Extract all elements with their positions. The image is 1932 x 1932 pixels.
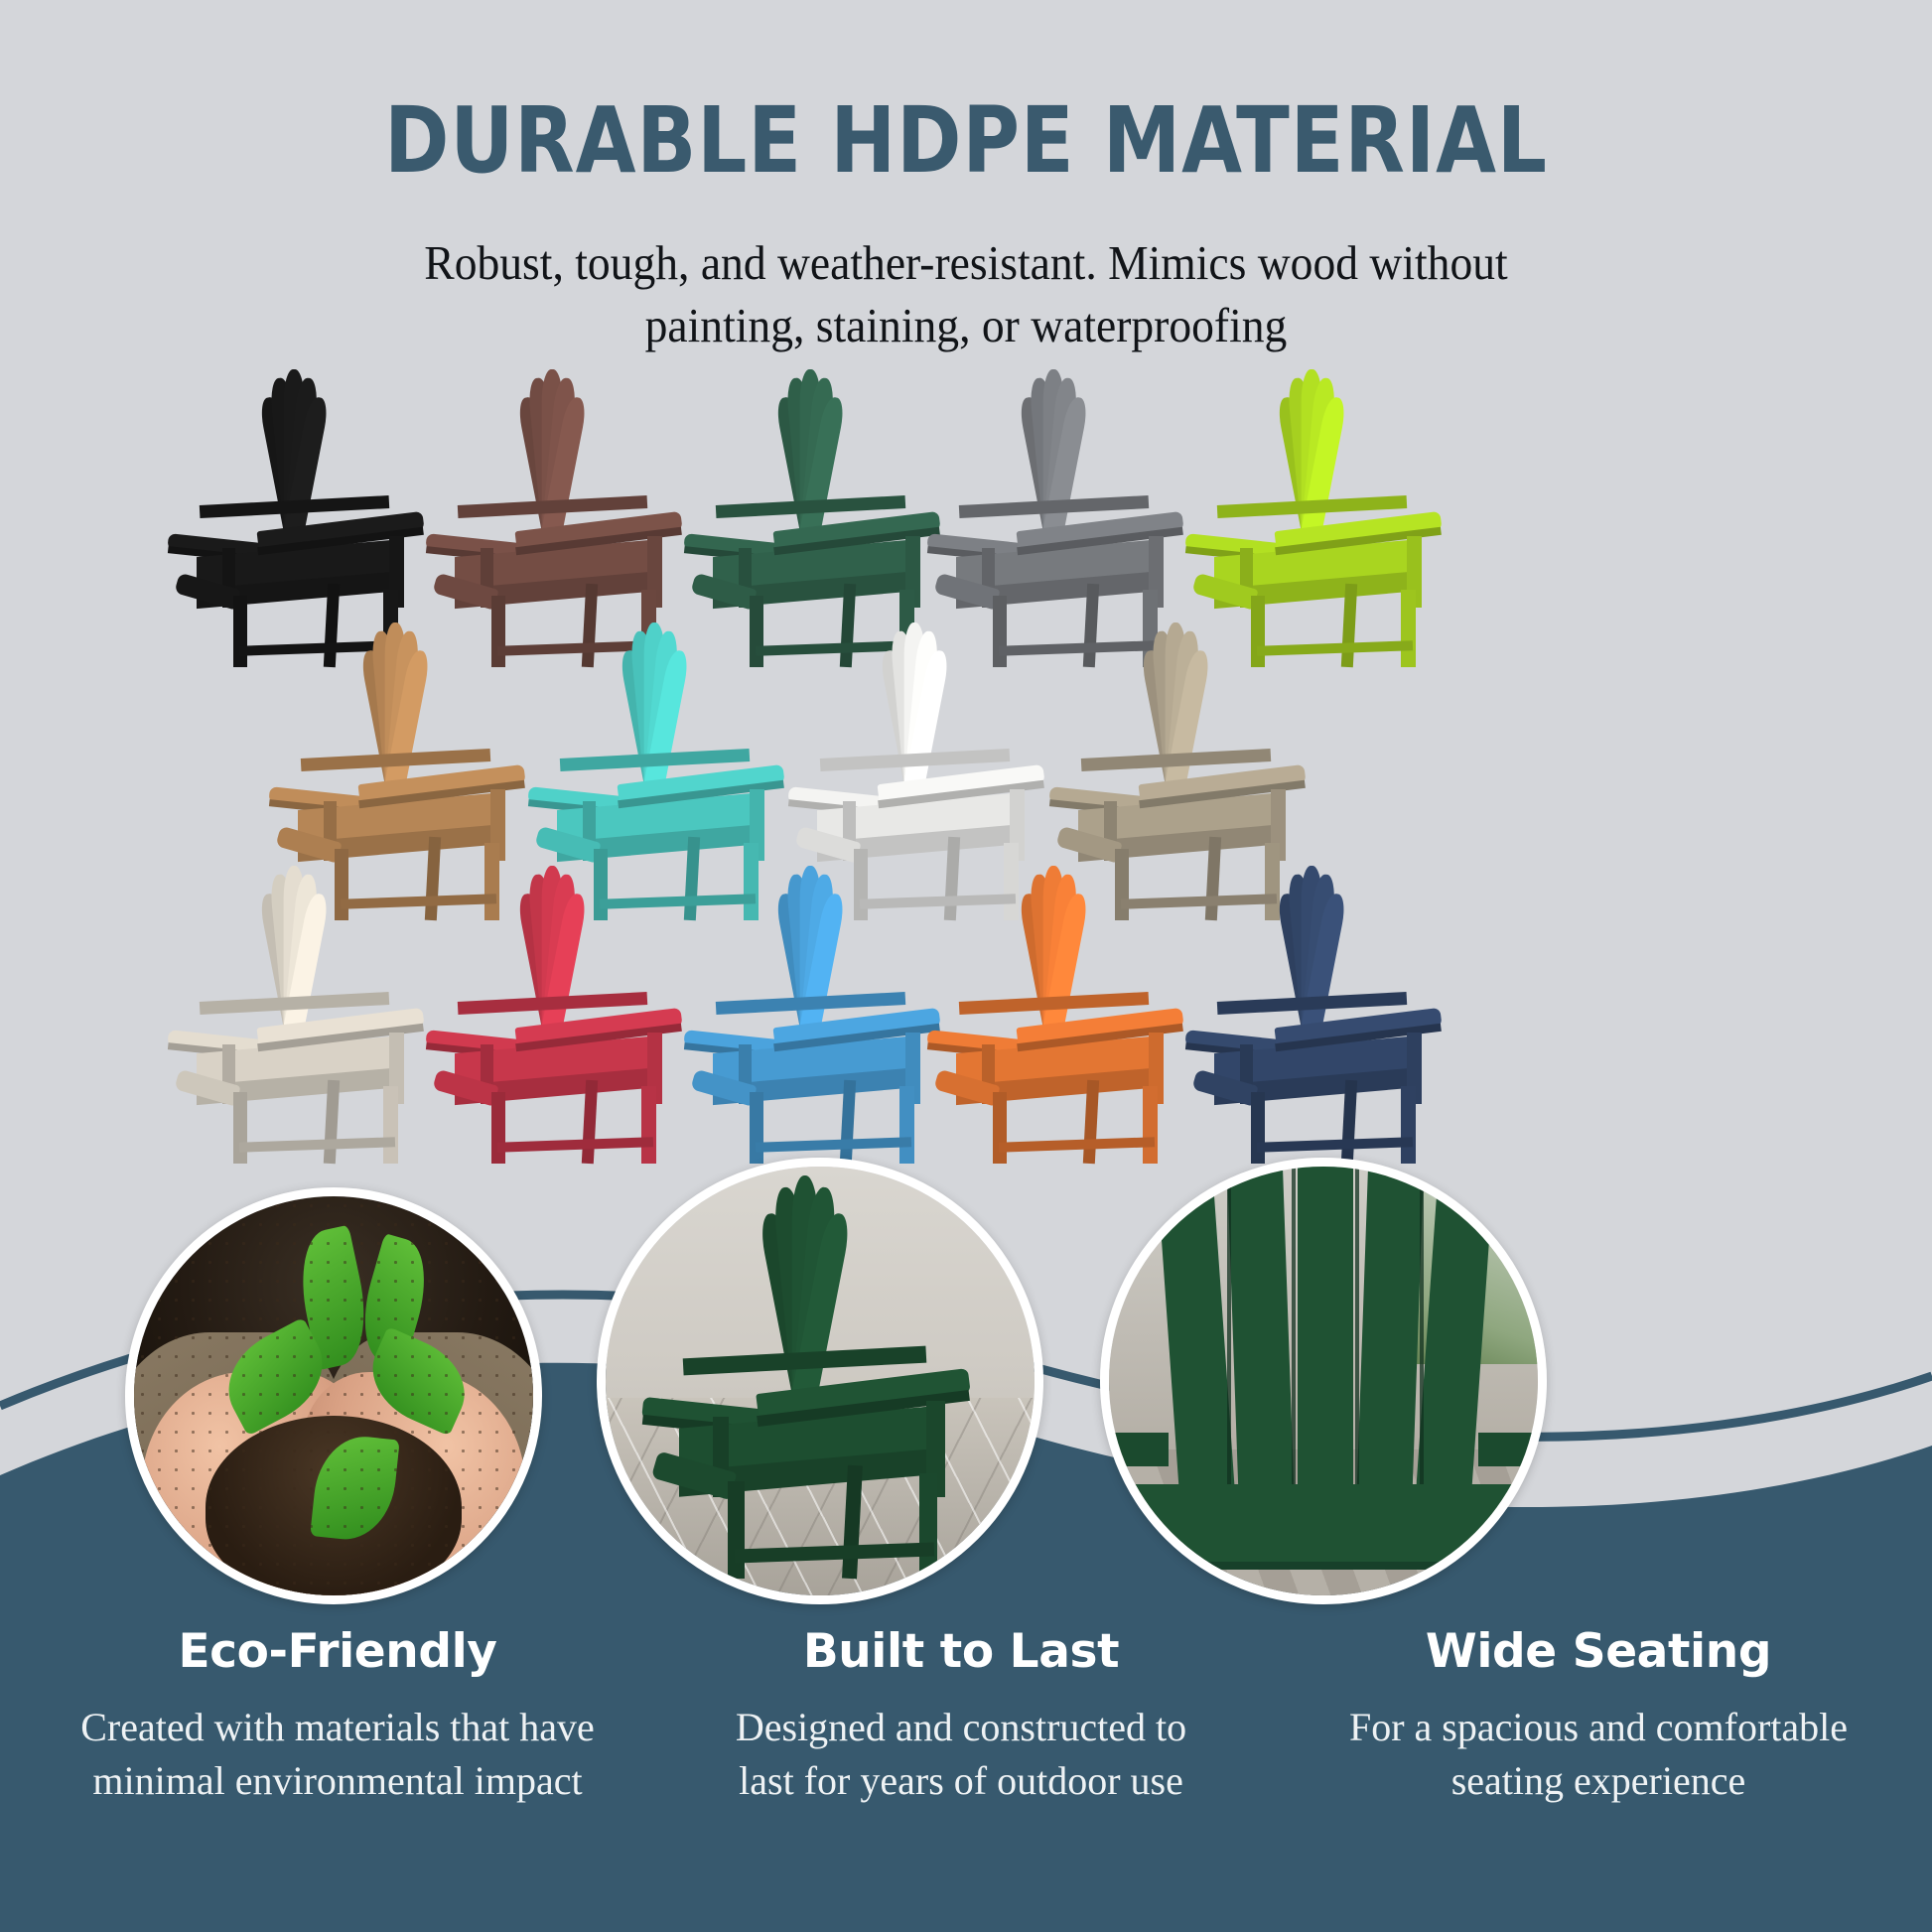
chair-swatch-red[interactable] (417, 866, 705, 1164)
subtitle-line-2: painting, staining, or waterproofing (68, 295, 1864, 357)
leg-front-right (1143, 1086, 1158, 1164)
leg-front-right (899, 1086, 914, 1164)
chair-back-slats-closeup-photo (1109, 1167, 1538, 1595)
armrest-right-closeup (1478, 1433, 1547, 1467)
header: DURABLE HDPE MATERIAL Robust, tough, and… (0, 0, 1932, 356)
leg-front-right (1401, 1086, 1416, 1164)
leg-stretcher (756, 1137, 911, 1153)
leg-front-left (491, 1092, 504, 1164)
leg-front-left (993, 1092, 1006, 1164)
feature-description-line-2: minimal environmental impact (92, 1758, 582, 1803)
leg-front-right (641, 1086, 656, 1164)
leg-stretcher (497, 1137, 653, 1153)
leg-stretcher (1257, 1137, 1413, 1153)
feature-description-line-2: last for years of outdoor use (739, 1758, 1183, 1803)
feature-heading: Wide Seating (1281, 1624, 1916, 1679)
feature-photo-built-to-last (597, 1158, 1043, 1604)
chair-render (1176, 866, 1464, 1164)
slat-gap-4 (1420, 1158, 1424, 1527)
page-subtitle: Robust, tough, and weather-resistant. Mi… (68, 232, 1864, 356)
leg-front-left (233, 1092, 246, 1164)
feature-built-to-last: Built to Last Designed and constructed t… (633, 1624, 1289, 1809)
feature-description: Created with materials that have minimal… (20, 1701, 655, 1809)
chair-swatch-orange[interactable] (918, 866, 1206, 1164)
leg-front-left (233, 596, 246, 667)
leg-front-left (728, 1481, 745, 1578)
page-title: DURABLE HDPE MATERIAL (49, 95, 1884, 187)
leg-front-left (1251, 1092, 1264, 1164)
feature-description-line-2: seating experience (1451, 1758, 1746, 1803)
chair-render (159, 866, 447, 1164)
feature-heading: Built to Last (633, 1624, 1289, 1679)
slat-gap-3 (1355, 1158, 1359, 1527)
leg-stretcher (735, 1543, 934, 1564)
feature-wide-seating: Wide Seating For a spacious and comforta… (1281, 1624, 1916, 1809)
feature-photo-wide-seating (1100, 1158, 1547, 1604)
closeup-slat-3 (1298, 1158, 1353, 1527)
leg-stretcher (999, 1137, 1155, 1153)
soil-specks (134, 1196, 533, 1595)
chair-render (918, 866, 1206, 1164)
feature-description: For a spacious and comfortable seating e… (1281, 1701, 1916, 1809)
subtitle-line-1: Robust, tough, and weather-resistant. Mi… (68, 232, 1864, 295)
slat-gap-1 (1227, 1158, 1231, 1527)
leg-front-right (919, 1473, 938, 1579)
chair-swatch-navy-blue[interactable] (1176, 866, 1464, 1164)
feature-description-line-1: Designed and constructed to (736, 1705, 1186, 1749)
feature-description-line-1: For a spacious and comfortable (1349, 1705, 1848, 1749)
feature-description-line-1: Created with materials that have (80, 1705, 595, 1749)
leg-front-right (1401, 590, 1416, 667)
green-adirondack-chair-on-patio-photo (606, 1167, 1035, 1595)
closeup-seat (1100, 1484, 1547, 1570)
slat-gap-2 (1292, 1158, 1296, 1527)
feature-eco-friendly: Eco-Friendly Created with materials that… (20, 1624, 655, 1809)
closeup-slat-2 (1227, 1158, 1296, 1528)
leg-stretcher (239, 1137, 395, 1153)
feature-photo-eco-friendly (125, 1187, 542, 1604)
chair-render (417, 866, 705, 1164)
hands-holding-seedling-photo (134, 1196, 533, 1595)
green-chair-render (631, 1175, 1001, 1579)
chair-swatch-ivory[interactable] (159, 866, 447, 1164)
chair-color-grid (0, 369, 1932, 1243)
infographic-canvas: DURABLE HDPE MATERIAL Robust, tough, and… (0, 0, 1932, 1932)
feature-heading: Eco-Friendly (20, 1624, 655, 1679)
feature-description: Designed and constructed to last for yea… (633, 1701, 1289, 1809)
feature-captions: Eco-Friendly Created with materials that… (0, 1624, 1932, 1902)
leg-front-right (383, 1086, 398, 1164)
armrest-left-closeup (1100, 1433, 1169, 1467)
leg-front-left (750, 1092, 762, 1164)
